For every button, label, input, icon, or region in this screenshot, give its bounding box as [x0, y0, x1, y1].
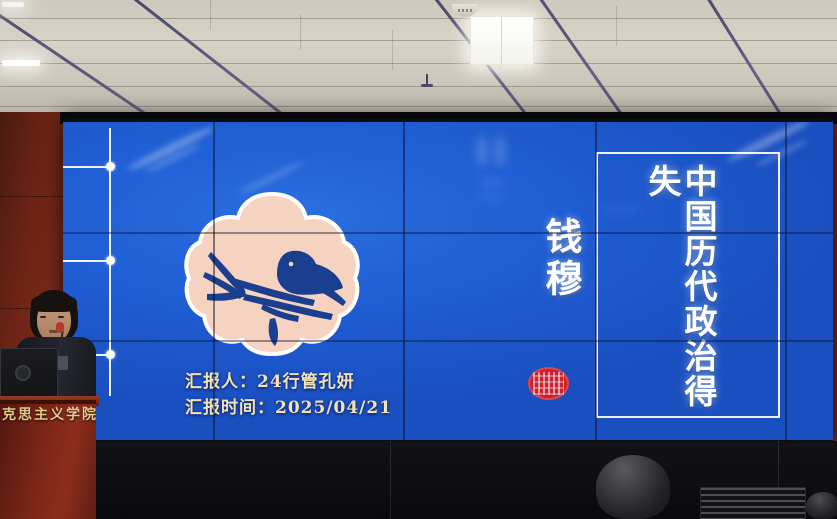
- bird-on-branch-cloud-emblem: [183, 190, 361, 356]
- lecture-hall-photo: 钱穆 中国历代政治得失 汇报人：24行管孔妍 汇报时间：2025/04/21: [0, 0, 837, 519]
- video-wall: 钱穆 中国历代政治得失 汇报人：24行管孔妍 汇报时间：2025/04/21: [63, 118, 833, 443]
- slide-decor-dot: [106, 256, 115, 265]
- ceiling: [0, 0, 837, 118]
- presenter-fringe: [31, 294, 77, 312]
- microphone-icon: [56, 322, 64, 333]
- presentation-slide: 钱穆 中国历代政治得失 汇报人：24行管孔妍 汇报时间：2025/04/21: [63, 122, 833, 440]
- audience-head: [806, 492, 837, 519]
- panel-seam: [63, 232, 833, 234]
- ceiling-light: [2, 60, 40, 66]
- slide-decor-tick: [63, 260, 111, 262]
- panel-seam: [63, 340, 833, 342]
- date-line: 汇报时间：2025/04/21: [185, 396, 392, 422]
- recessed-light-panel: [470, 16, 534, 65]
- panel-seam: [785, 122, 787, 440]
- speaker-grille: [700, 487, 806, 519]
- slide-author: 钱穆: [518, 217, 580, 301]
- red-seal-stamp: [528, 367, 569, 400]
- sprinkler-head-icon: [426, 74, 428, 85]
- slide-decor-dot: [106, 162, 115, 171]
- presenter-line: 汇报人：24行管孔妍: [185, 370, 392, 396]
- podium-label: 克思主义学院: [2, 404, 96, 424]
- audience-head: [596, 455, 670, 519]
- slide-decor-dot: [106, 350, 115, 359]
- panel-seam: [595, 122, 597, 440]
- presenter-eye: [40, 316, 46, 318]
- panel-seam: [403, 122, 405, 440]
- presenter-eye: [58, 316, 64, 318]
- slide-meta: 汇报人：24行管孔妍 汇报时间：2025/04/21: [185, 370, 392, 422]
- slide-title: 中国历代政治得失: [660, 164, 716, 440]
- panel-seam: [213, 122, 215, 440]
- slide-decor-tick: [63, 166, 111, 168]
- ceiling-light: [2, 2, 24, 7]
